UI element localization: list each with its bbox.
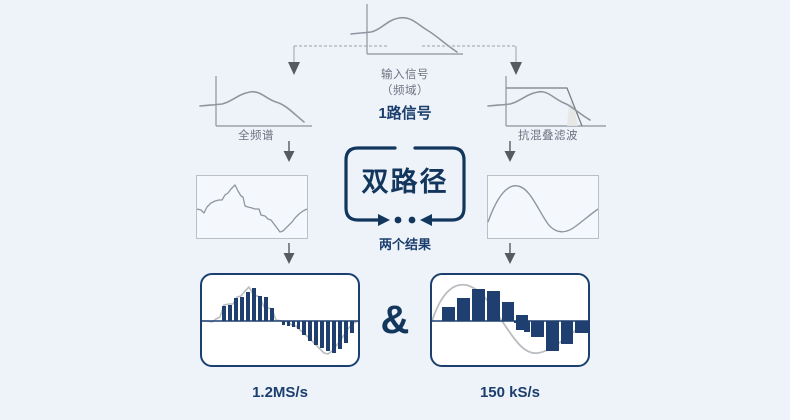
left-arrow-2 <box>282 243 296 265</box>
full-spectrum-graph <box>196 72 316 134</box>
result-panel-right <box>430 273 590 367</box>
left-arrow-1 <box>282 141 296 163</box>
anti-alias-filter-curve-icon <box>486 72 610 134</box>
result-rate-right: 150 kS/s <box>430 384 590 401</box>
dual-path-hub: 双路径 <box>340 144 470 234</box>
left-branch-caption: 全频谱 <box>196 127 316 143</box>
input-caption-line1: 输入信号 <box>335 66 475 82</box>
low-rate-sampled-bars-icon <box>432 275 588 365</box>
input-signal-label: 1路信号 <box>335 102 475 123</box>
arrow-down-icon <box>503 141 517 163</box>
anti-alias-graph <box>486 72 610 134</box>
right-arrow-1 <box>503 141 517 163</box>
arrow-down-icon <box>282 243 296 265</box>
noisy-waveform-icon <box>197 176 307 238</box>
ampersand-separator: & <box>372 300 418 340</box>
result-panel-left <box>200 273 360 367</box>
arrow-down-icon <box>503 243 517 265</box>
high-rate-sampled-bars-icon <box>202 275 358 365</box>
noisy-waveform-panel <box>196 175 308 239</box>
input-caption-line2: （频域） <box>335 82 475 98</box>
diagram-canvas: 输入信号 （频域） 1路信号 全频谱 <box>0 0 790 420</box>
right-arrow-2 <box>503 243 517 265</box>
sine-waveform-panel <box>487 175 599 239</box>
arrow-down-icon <box>282 141 296 163</box>
hub-title: 双路径 <box>340 160 470 199</box>
result-rate-left: 1.2MS/s <box>200 384 360 401</box>
sine-waveform-icon <box>488 176 598 238</box>
full-spectrum-curve-icon <box>196 72 316 134</box>
hub-subtitle: 两个结果 <box>340 234 470 253</box>
